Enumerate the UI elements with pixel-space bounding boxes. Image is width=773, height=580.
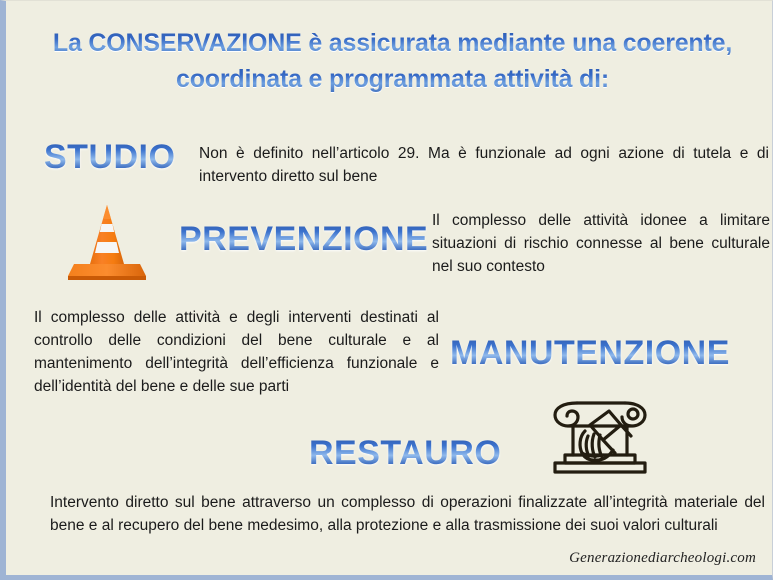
watermark-credit: Generazionediarcheologi.com — [569, 550, 756, 567]
traffic-cone-icon — [64, 202, 150, 284]
title-line-2: coordinata e programmata attività di: — [6, 61, 773, 97]
slide-title: La CONSERVAZIONE è assicurata mediante u… — [6, 25, 773, 97]
title-line-1: La CONSERVAZIONE è assicurata mediante u… — [6, 25, 773, 61]
body-studio: Non è definito nell’articolo 29. Ma è fu… — [199, 142, 769, 188]
body-manutenzione: Il complesso delle attività e degli inte… — [34, 306, 439, 398]
heading-manutenzione: MANUTENZIONE — [450, 334, 730, 373]
heading-studio: STUDIO — [44, 138, 175, 177]
slide-canvas: La CONSERVAZIONE è assicurata mediante u… — [0, 0, 773, 580]
column-restoration-icon — [547, 381, 655, 476]
heading-restauro: RESTAURO — [309, 434, 501, 473]
body-prevenzione: Il complesso delle attività idonee a lim… — [432, 209, 770, 278]
body-restauro: Intervento diretto sul bene attraverso u… — [50, 491, 765, 537]
heading-prevenzione: PREVENZIONE — [179, 220, 428, 259]
